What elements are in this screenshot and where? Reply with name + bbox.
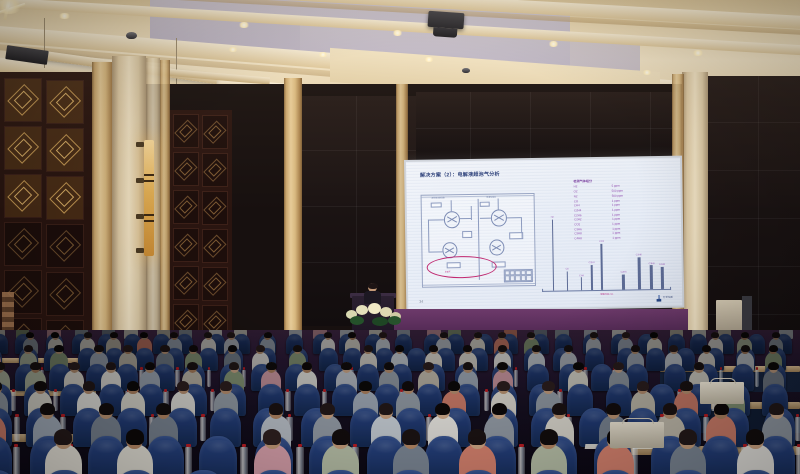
audience-hair	[552, 403, 567, 416]
audience-hair	[220, 381, 232, 391]
conference-bag	[610, 422, 664, 448]
audience-hair	[170, 332, 178, 338]
audience-hair	[772, 332, 780, 338]
audience-hair	[741, 345, 750, 352]
audience-hair	[24, 345, 33, 352]
audience-hair	[384, 362, 395, 371]
audience-hair	[613, 362, 624, 371]
dome-security-camera	[462, 68, 470, 73]
audience-hair	[263, 429, 281, 445]
water-bottle	[514, 370, 518, 387]
audience-hair	[51, 332, 59, 338]
audience-hair	[348, 332, 356, 338]
audience-hair	[622, 332, 630, 338]
audience-hair	[440, 332, 448, 338]
audience-hair	[156, 403, 171, 416]
audience-hair	[40, 403, 55, 416]
audience-hair	[532, 345, 541, 352]
wood-lattice-screen	[170, 110, 232, 350]
audience-hair	[106, 362, 117, 371]
water-bottle	[796, 447, 800, 474]
crystal-chandelier	[0, 0, 50, 32]
audience-hair	[54, 429, 72, 445]
water-bottle	[285, 391, 290, 411]
audience-hair	[573, 362, 584, 371]
audience-hair	[540, 429, 558, 445]
audience-hair	[474, 332, 482, 338]
audience-hair	[256, 345, 265, 352]
audience-hair	[680, 381, 692, 391]
audience-chair	[701, 436, 739, 474]
audience-hair	[768, 362, 779, 371]
audience-hair	[542, 381, 554, 391]
audience-hair	[140, 332, 148, 338]
audience-hair	[746, 429, 764, 445]
audience-hair	[266, 362, 277, 371]
water-bottle	[200, 417, 206, 441]
audience-hair	[402, 429, 420, 445]
audience-hair	[379, 403, 394, 416]
audience-hair	[379, 332, 387, 338]
audience-hair	[145, 362, 156, 371]
audience-hair	[650, 332, 658, 338]
audience-hair	[423, 362, 434, 371]
dome-security-camera	[126, 32, 137, 39]
audience-hair	[302, 362, 313, 371]
audience-hair	[669, 345, 678, 352]
water-bottle	[14, 417, 20, 441]
audience-hair	[359, 381, 371, 391]
flower-arrangement	[344, 300, 404, 326]
audience-hair	[332, 429, 350, 445]
audience-hair	[84, 332, 92, 338]
projection-screen: 解决方案（2）：电解液超泡气分析 检测气体组分 H25 ppmO2500 ppm…	[404, 156, 684, 312]
audience-hair	[227, 332, 235, 338]
audience-hair	[714, 403, 729, 416]
audience-hair	[498, 332, 506, 338]
audience-hair	[264, 332, 272, 338]
audience-chair	[199, 436, 237, 474]
audience-hair	[663, 403, 678, 416]
chromatogram-peak	[591, 265, 593, 290]
audience-hair	[204, 332, 212, 338]
audience-hair	[26, 332, 34, 338]
water-bottle	[795, 417, 800, 441]
audience-hair	[320, 403, 335, 416]
audience-hair	[187, 362, 198, 371]
audience-hair	[364, 345, 373, 352]
slide-surface: 解决方案（2）：电解液超泡气分析 检测气体组分 H25 ppmO2500 ppm…	[406, 158, 682, 310]
audience-hair	[293, 345, 302, 352]
water-bottle	[207, 370, 211, 387]
audience-chair	[0, 334, 8, 354]
audience-hair	[590, 332, 598, 338]
audience-hair	[637, 381, 649, 391]
audience-hair	[711, 332, 719, 338]
audience-hair	[34, 381, 46, 391]
water-bottle	[518, 447, 526, 474]
ceiling-projector	[427, 11, 464, 29]
audience-hair	[123, 345, 132, 352]
audience-hair	[606, 403, 621, 416]
audience-hair	[127, 381, 139, 391]
wall-sconce	[144, 140, 154, 256]
audience-hair	[435, 403, 450, 416]
audience-hair	[30, 362, 41, 371]
wood-column	[92, 62, 114, 362]
seated-audience	[0, 330, 800, 474]
water-bottle	[240, 447, 248, 474]
audience-hair	[497, 381, 509, 391]
wood-column	[160, 60, 170, 362]
audience-hair	[631, 345, 640, 352]
audience-hair	[402, 381, 414, 391]
audience-hair	[395, 345, 404, 352]
water-bottle	[755, 370, 759, 387]
wood-column	[284, 78, 302, 344]
audience-hair	[463, 362, 474, 371]
water-bottle	[11, 391, 16, 411]
audience-hair	[463, 345, 472, 352]
water-bottle	[13, 447, 21, 474]
audience-hair	[177, 381, 189, 391]
audience-hair	[679, 429, 697, 445]
conference-hall-photo: 解决方案（2）：电解液超泡气分析 检测气体组分 H25 ppmO2500 ppm…	[0, 0, 800, 474]
audience-hair	[448, 381, 460, 391]
audience-hair	[741, 332, 749, 338]
conference-bag	[700, 382, 744, 404]
audience-hair	[269, 403, 284, 416]
audience-hair	[324, 332, 332, 338]
audience-hair	[769, 345, 778, 352]
audience-hair	[769, 403, 784, 416]
audience-hair	[126, 429, 144, 445]
water-bottle	[185, 447, 193, 474]
audience-hair	[492, 403, 507, 416]
audience-hair	[160, 345, 169, 352]
audience-chair	[646, 348, 665, 371]
audience-chair	[425, 436, 463, 474]
audience-hair	[94, 345, 103, 352]
audience-hair	[498, 345, 507, 352]
audience-hair	[527, 332, 535, 338]
audience-hair	[564, 345, 573, 352]
audience-hair	[702, 345, 711, 352]
audience-hair	[54, 345, 63, 352]
audience-hair	[69, 362, 80, 371]
water-bottle	[484, 391, 489, 411]
audience-hair	[694, 362, 705, 371]
audience-hair	[99, 403, 114, 416]
audience-hair	[83, 381, 95, 391]
audience-hair	[229, 362, 240, 371]
audience-hair	[341, 362, 352, 371]
audience-hair	[228, 345, 237, 352]
audience-hair	[110, 332, 118, 338]
stone-column	[112, 56, 146, 362]
audience-hair	[429, 345, 438, 352]
water-bottle	[296, 447, 304, 474]
audience-hair	[189, 345, 198, 352]
audience-hair	[468, 429, 486, 445]
audience-hair	[497, 362, 508, 371]
